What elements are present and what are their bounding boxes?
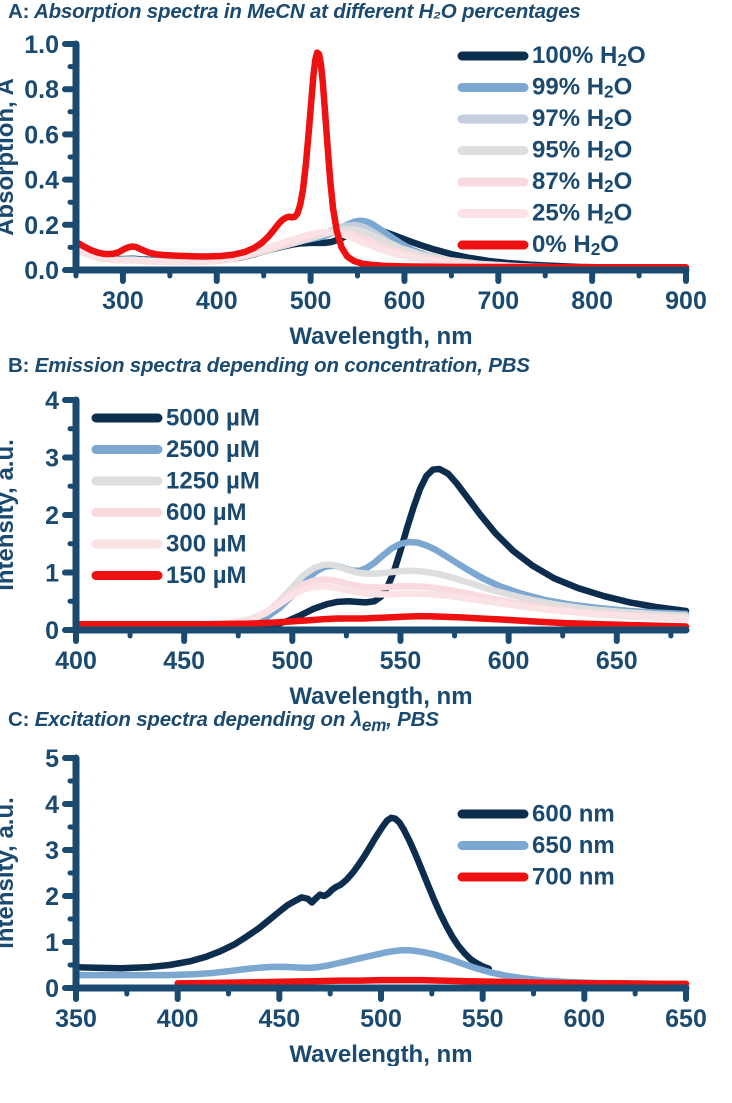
- y-axis-title: Intensity, a.u.: [0, 439, 19, 591]
- panel-b-plot: 40045050055060065001234Wavelength, nmInt…: [0, 378, 732, 708]
- y-tick-label: 2: [45, 502, 59, 530]
- x-tick-label: 900: [665, 287, 707, 315]
- legend-label: 1250 µM: [166, 467, 260, 494]
- x-tick-label: 400: [157, 1005, 199, 1033]
- y-tick-label: 0.4: [24, 167, 59, 195]
- y-axis-title: Intensity, a.u.: [0, 797, 19, 949]
- spectrum-line: [76, 818, 489, 969]
- x-axis-title: Wavelength, nm: [289, 323, 472, 350]
- x-tick-label: 450: [163, 647, 205, 675]
- x-tick-label: 550: [462, 1005, 504, 1033]
- legend-label: 25% H2O: [532, 200, 632, 227]
- x-tick-label: 400: [55, 647, 97, 675]
- legend-label: 700 nm: [532, 863, 615, 890]
- axes: 3004005006007008009000.00.20.40.60.81.0: [24, 31, 707, 315]
- y-tick-label: 0: [45, 617, 59, 645]
- legend-label: 300 µM: [166, 530, 247, 557]
- legend-label: 600 nm: [532, 800, 615, 827]
- legend: 5000 µM2500 µM1250 µM600 µM300 µM150 µM: [96, 404, 260, 589]
- y-axis-title: Absorption, A: [0, 78, 19, 236]
- panel-c: C: Excitation spectra depending on λem, …: [0, 708, 732, 1066]
- panel-a: A: Absorption spectra in MeCN at differe…: [0, 0, 732, 354]
- panel-c-title-post: , PBS: [386, 708, 439, 731]
- panel-b: B: Emission spectra depending on concent…: [0, 354, 732, 708]
- x-tick-label: 600: [563, 1005, 605, 1033]
- x-tick-label: 500: [290, 287, 332, 315]
- legend: 100% H2O99% H2O97% H2O95% H2O87% H2O25% …: [462, 42, 646, 258]
- legend-label: 95% H2O: [532, 137, 632, 164]
- legend-label: 650 nm: [532, 832, 615, 859]
- y-tick-label: 2: [45, 883, 59, 911]
- y-tick-label: 0.6: [24, 121, 59, 149]
- x-tick-label: 450: [258, 1005, 300, 1033]
- panel-a-title-text: Absorption spectra in MeCN at different …: [34, 0, 581, 23]
- x-tick-label: 500: [360, 1005, 402, 1033]
- panel-c-title: C: Excitation spectra depending on λem, …: [0, 708, 732, 736]
- y-tick-label: 1: [45, 560, 59, 588]
- y-tick-label: 0.0: [24, 257, 59, 285]
- y-tick-label: 5: [45, 745, 59, 773]
- y-tick-label: 1: [45, 929, 59, 957]
- legend-label: 100% H2O: [532, 42, 646, 69]
- x-tick-label: 600: [488, 647, 530, 675]
- panel-c-chart: 350400450500550600650012345Wavelength, n…: [0, 736, 732, 1066]
- panel-a-plot: 3004005006007008009000.00.20.40.60.81.0W…: [0, 24, 732, 354]
- spectrum-line: [76, 616, 686, 626]
- legend-label: 2500 µM: [166, 436, 260, 463]
- spectrum-line: [178, 980, 686, 984]
- x-tick-label: 350: [55, 1005, 97, 1033]
- y-tick-label: 0.8: [24, 76, 59, 104]
- legend-label: 87% H2O: [532, 168, 632, 195]
- x-tick-label: 300: [102, 287, 144, 315]
- panel-c-plot: 350400450500550600650012345Wavelength, n…: [0, 736, 732, 1066]
- x-tick-label: 650: [596, 647, 638, 675]
- panel-c-title-sub: em: [362, 716, 386, 735]
- y-tick-label: 0.2: [24, 212, 59, 240]
- x-tick-label: 400: [196, 287, 238, 315]
- y-tick-label: 3: [45, 837, 59, 865]
- panel-c-label: C:: [8, 708, 29, 731]
- panel-a-label: A:: [8, 0, 29, 23]
- y-tick-label: 4: [45, 387, 59, 415]
- panel-b-title-text: Emission spectra depending on concentrat…: [35, 354, 530, 377]
- y-tick-label: 0: [45, 975, 59, 1003]
- panel-a-chart: 3004005006007008009000.00.20.40.60.81.0W…: [0, 24, 732, 354]
- x-tick-label: 500: [271, 647, 313, 675]
- x-axis-title: Wavelength, nm: [289, 683, 472, 708]
- legend-label: 99% H2O: [532, 74, 632, 101]
- x-axis-title: Wavelength, nm: [289, 1041, 472, 1066]
- legend-label: 600 µM: [166, 499, 247, 526]
- legend-label: 0% H2O: [532, 231, 619, 258]
- panel-b-chart: 40045050055060065001234Wavelength, nmInt…: [0, 378, 732, 708]
- panel-c-title-text: Excitation spectra depending on λem, PBS: [35, 708, 439, 731]
- x-tick-label: 800: [571, 287, 613, 315]
- y-tick-label: 1.0: [24, 31, 59, 59]
- axes: 40045050055060065001234: [45, 387, 686, 675]
- legend-label: 5000 µM: [166, 404, 260, 431]
- y-tick-label: 3: [45, 445, 59, 473]
- panel-c-title-pre: Excitation spectra depending on λ: [35, 708, 362, 731]
- legend-label: 150 µM: [166, 562, 247, 589]
- legend-label: 97% H2O: [532, 105, 632, 132]
- x-tick-label: 600: [384, 287, 426, 315]
- panel-b-title: B: Emission spectra depending on concent…: [0, 354, 732, 378]
- x-tick-label: 550: [380, 647, 422, 675]
- y-tick-label: 4: [45, 791, 59, 819]
- x-tick-label: 650: [665, 1005, 707, 1033]
- figure-container: A: Absorption spectra in MeCN at differe…: [0, 0, 732, 1103]
- panel-a-title: A: Absorption spectra in MeCN at differe…: [0, 0, 732, 24]
- legend: 600 nm650 nm700 nm: [462, 800, 615, 890]
- panel-b-label: B:: [8, 354, 29, 377]
- x-tick-label: 700: [477, 287, 519, 315]
